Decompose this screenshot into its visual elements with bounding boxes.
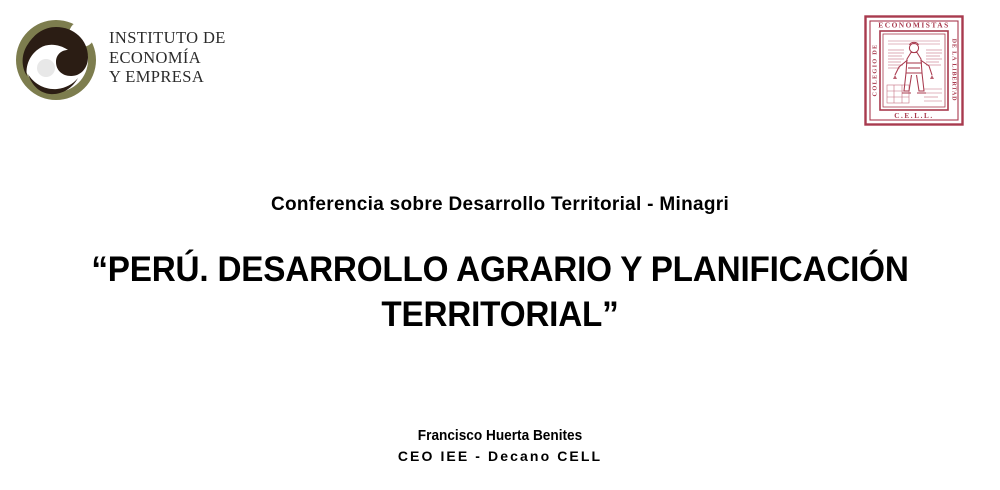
page-title: “PERÚ. DESARROLLO AGRARIO Y PLANIFICACIÓ…	[54, 247, 947, 337]
title-slide: INSTITUTO DE ECONOMÍA Y EMPRESA ECONOMIS…	[0, 0, 1000, 490]
svg-text:DE LA LIBERTAD: DE LA LIBERTAD	[951, 39, 958, 102]
presenter-role: CEO IEE - Decano CELL	[0, 447, 1000, 466]
crescent-circle-logo-icon	[12, 16, 100, 104]
page-title-line-2: TERRITORIAL”	[54, 292, 947, 337]
instituto-logo-text: INSTITUTO DE ECONOMÍA Y EMPRESA	[109, 28, 226, 87]
svg-text:COLEGIO DE: COLEGIO DE	[872, 43, 879, 96]
instituto-logo-line-3: Y EMPRESA	[109, 67, 226, 87]
instituto-logo: INSTITUTO DE ECONOMÍA Y EMPRESA	[12, 16, 242, 108]
cell-emblem-icon: ECONOMISTAS C.E.L.L. COLEGIO DE DE LA LI…	[864, 15, 964, 126]
instituto-logo-line-1: INSTITUTO DE	[109, 28, 226, 48]
svg-text:C.E.L.L.: C.E.L.L.	[894, 112, 934, 120]
presenter-name: Francisco Huerta Benites	[30, 427, 970, 446]
presenter-block: Francisco Huerta Benites CEO IEE - Decan…	[0, 427, 1000, 466]
page-title-line-1: “PERÚ. DESARROLLO AGRARIO Y PLANIFICACIÓ…	[54, 247, 947, 292]
instituto-logo-line-2: ECONOMÍA	[109, 48, 226, 68]
svg-text:ECONOMISTAS: ECONOMISTAS	[878, 21, 949, 30]
conference-subtitle: Conferencia sobre Desarrollo Territorial…	[0, 194, 1000, 216]
